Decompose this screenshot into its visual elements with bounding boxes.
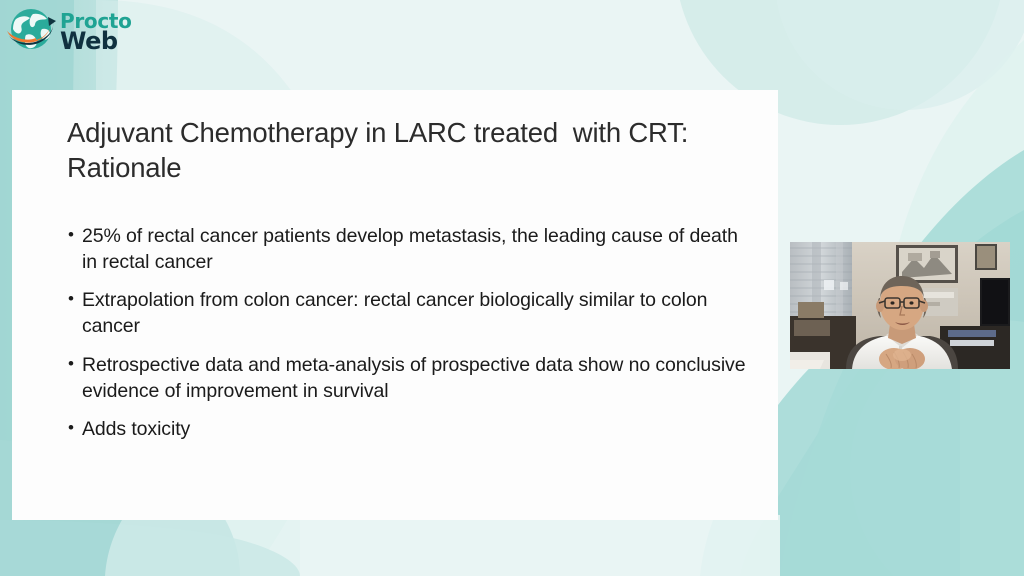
globe-swoosh-icon [6, 5, 58, 57]
list-item: • 25% of rectal cancer patients develop … [68, 223, 750, 275]
bullet-glyph: • [68, 352, 82, 377]
list-item: • Extrapolation from colon cancer: recta… [68, 287, 750, 339]
list-item: • Adds toxicity [68, 416, 750, 442]
bullet-glyph: • [68, 416, 82, 441]
list-item-text: Adds toxicity [82, 416, 750, 442]
speaker-video-thumbnail[interactable] [790, 242, 1010, 369]
speaker-video-frame [790, 242, 1010, 369]
presentation-viewer: Procto Web Adjuvant Chemotherapy in LARC… [0, 0, 1024, 576]
logo-wordmark: Procto Web [60, 10, 132, 52]
list-item: • Retrospective data and meta-analysis o… [68, 352, 750, 404]
procto-web-logo[interactable]: Procto Web [6, 2, 126, 60]
logo-text-web: Web [60, 30, 132, 52]
bullet-glyph: • [68, 223, 82, 248]
slide-canvas: Adjuvant Chemotherapy in LARC treated wi… [12, 90, 778, 520]
list-item-text: Extrapolation from colon cancer: rectal … [82, 287, 750, 339]
bullet-glyph: • [68, 287, 82, 312]
list-item-text: Retrospective data and meta-analysis of … [82, 352, 750, 404]
list-item-text: 25% of rectal cancer patients develop me… [82, 223, 750, 275]
slide-bullet-list: • 25% of rectal cancer patients develop … [68, 223, 750, 454]
slide-title: Adjuvant Chemotherapy in LARC treated wi… [67, 115, 748, 185]
